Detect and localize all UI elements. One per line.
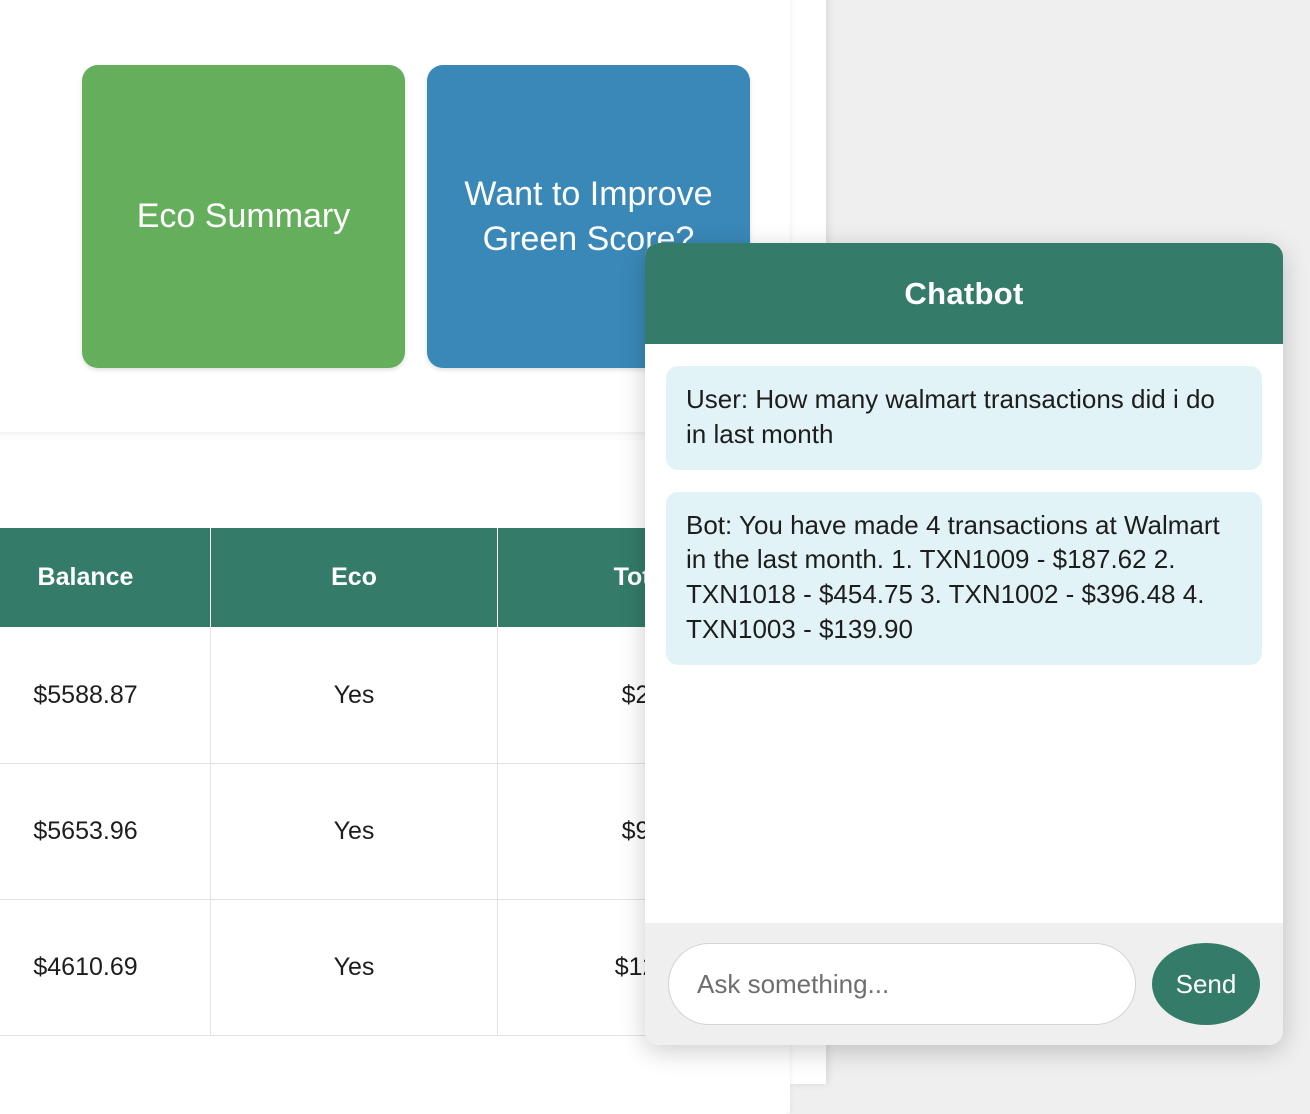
cell-eco: Yes	[211, 628, 498, 764]
cell-balance: $5588.87	[0, 628, 211, 764]
chat-message-user: User: How many walmart transactions did …	[666, 366, 1262, 470]
cell-balance: $4610.69	[0, 900, 211, 1036]
cell-eco: Yes	[211, 900, 498, 1036]
cell-balance: $5653.96	[0, 764, 211, 900]
chatbot-message-list[interactable]: User: How many walmart transactions did …	[645, 344, 1283, 923]
send-button[interactable]: Send	[1152, 943, 1260, 1025]
column-header-balance[interactable]: Balance	[0, 528, 211, 628]
chatbot-title: Chatbot	[904, 276, 1023, 312]
eco-summary-button[interactable]: Eco Summary	[82, 65, 405, 368]
chatbot-header: Chatbot	[645, 243, 1283, 344]
chatbot-panel: Chatbot User: How many walmart transacti…	[645, 243, 1283, 1045]
chat-input[interactable]	[668, 943, 1136, 1025]
cell-eco: Yes	[211, 764, 498, 900]
app-root: Eco Summary Want to Improve Green Score?…	[0, 0, 1310, 1074]
chatbot-composer: Send	[645, 923, 1283, 1045]
chat-message-bot: Bot: You have made 4 transactions at Wal…	[666, 492, 1262, 665]
column-header-eco[interactable]: Eco	[211, 528, 498, 628]
